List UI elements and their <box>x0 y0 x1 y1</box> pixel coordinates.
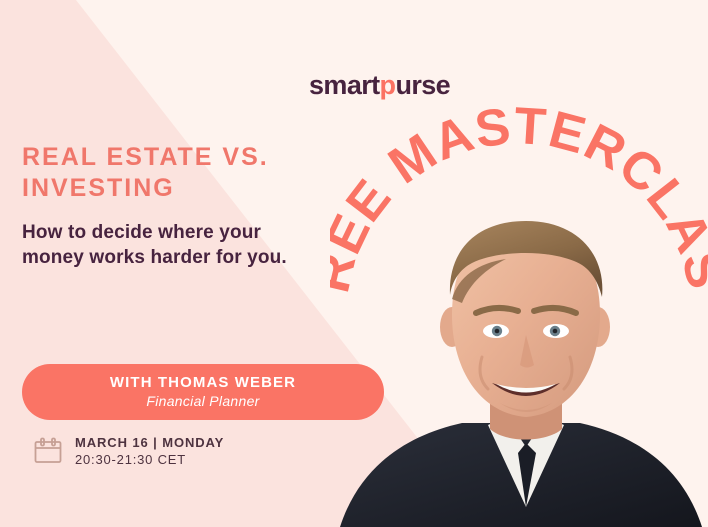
page-title: REAL ESTATE VS. INVESTING <box>22 142 322 204</box>
logo-text-part2: urse <box>395 70 450 100</box>
event-datetime-text: MARCH 16 | MONDAY 20:30-21:30 CET <box>75 434 224 468</box>
promo-poster: FREE MASTERCLASS smartpurse REAL ESTATE … <box>0 0 708 527</box>
speaker-role: Financial Planner <box>146 392 259 410</box>
headline-line-1: REAL ESTATE VS. <box>22 142 322 173</box>
logo-text-part1: smart <box>309 70 380 100</box>
event-time: 20:30-21:30 CET <box>75 451 224 468</box>
subheading: How to decide where your money works har… <box>22 220 302 270</box>
calendar-icon <box>33 436 63 466</box>
smartpurse-logo[interactable]: smartpurse <box>309 69 449 101</box>
speaker-name: WITH THOMAS WEBER <box>110 374 296 392</box>
event-date: MARCH 16 | MONDAY <box>75 434 224 451</box>
headline-line-2: INVESTING <box>22 173 322 204</box>
event-datetime-block: MARCH 16 | MONDAY 20:30-21:30 CET <box>33 434 224 468</box>
logo-text-accent: p <box>380 70 396 100</box>
speaker-badge: WITH THOMAS WEBER Financial Planner <box>22 364 384 420</box>
